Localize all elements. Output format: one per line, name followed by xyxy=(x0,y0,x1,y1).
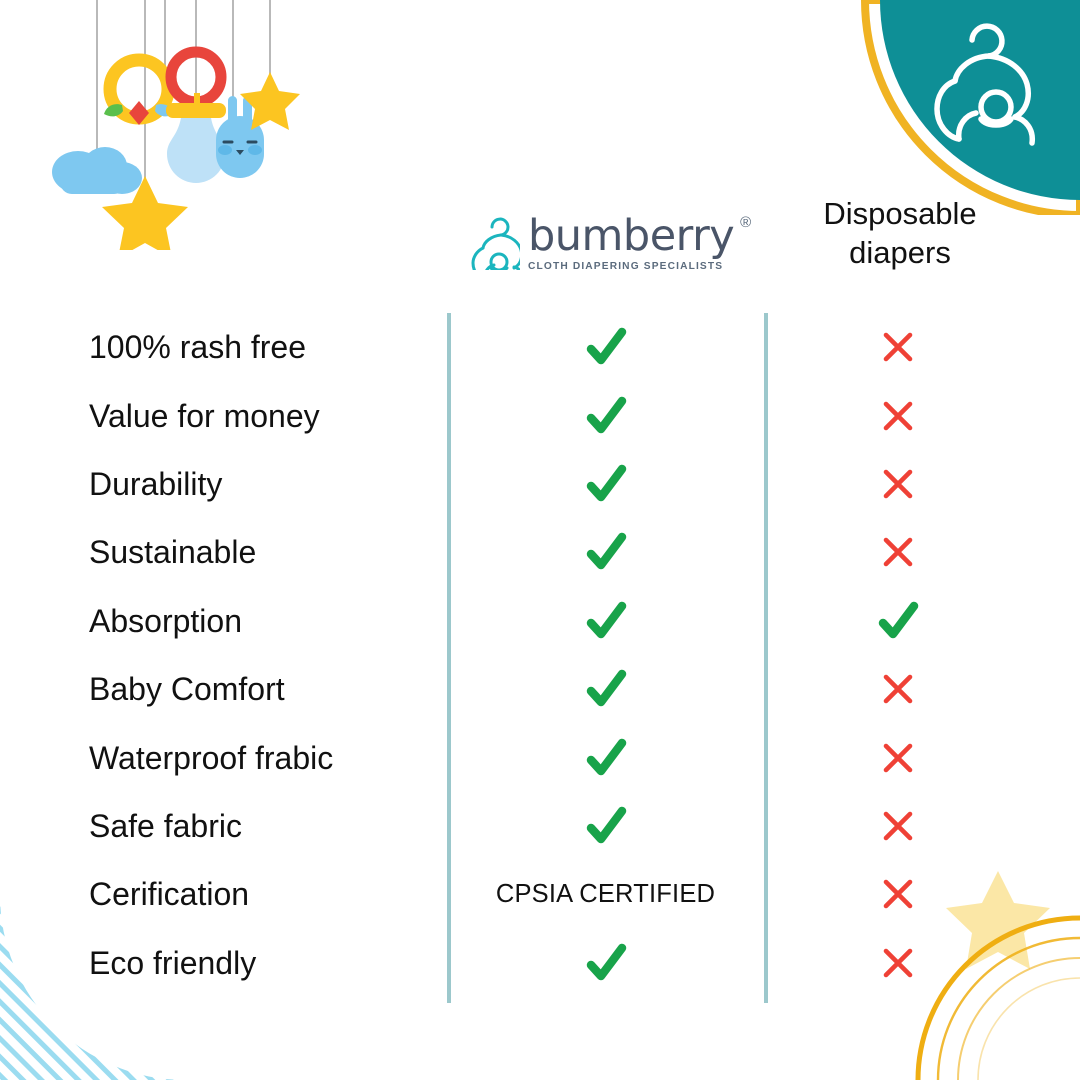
check-icon xyxy=(584,462,628,506)
check-icon xyxy=(584,530,628,574)
cloud-icon xyxy=(52,147,142,194)
check-icon xyxy=(876,599,920,643)
check-icon xyxy=(584,941,628,985)
cell-disposable xyxy=(768,587,1028,655)
cell-disposable xyxy=(768,860,1028,928)
cross-icon xyxy=(880,466,916,502)
cell-disposable xyxy=(768,450,1028,518)
feature-label: Eco friendly xyxy=(89,947,256,979)
cell-bumberry xyxy=(447,381,764,449)
check-icon xyxy=(584,599,628,643)
comparison-table: 100% rash freeValue for moneyDurabilityS… xyxy=(0,313,1080,997)
feature-label: Value for money xyxy=(89,400,320,432)
pacifier-icon xyxy=(166,52,226,183)
bumberry-logo-icon xyxy=(470,214,520,270)
rattle-ring-icon xyxy=(104,60,174,125)
cell-bumberry xyxy=(447,655,764,723)
cross-icon xyxy=(880,534,916,570)
cell-bumberry xyxy=(447,723,764,791)
registered-trademark-symbol: ® xyxy=(740,214,751,231)
table-row: Sustainable xyxy=(0,518,1080,586)
cell-disposable xyxy=(768,723,1028,791)
feature-label: Waterproof frabic xyxy=(89,742,333,774)
check-icon xyxy=(584,325,628,369)
cell-disposable xyxy=(768,792,1028,860)
parent-holding-baby-icon xyxy=(937,26,1032,143)
cell-disposable xyxy=(768,929,1028,997)
table-row: Eco friendly xyxy=(0,929,1080,997)
table-row: Safe fabric xyxy=(0,792,1080,860)
corner-badge-decoration xyxy=(820,0,1080,215)
feature-label: Absorption xyxy=(89,605,242,637)
star-icon xyxy=(240,72,300,130)
cross-icon xyxy=(880,945,916,981)
table-row: Baby Comfort xyxy=(0,655,1080,723)
cross-icon xyxy=(880,398,916,434)
table-row: CerificationCPSIA CERTIFIED xyxy=(0,860,1080,928)
feature-label: 100% rash free xyxy=(89,331,306,363)
feature-label: Safe fabric xyxy=(89,810,242,842)
cell-bumberry xyxy=(447,450,764,518)
brand-tagline: CLOTH DIAPERING SPECIALISTS xyxy=(528,261,734,272)
cell-bumberry xyxy=(447,929,764,997)
cell-bumberry xyxy=(447,792,764,860)
cross-icon xyxy=(880,671,916,707)
star-icon xyxy=(102,176,188,250)
check-icon xyxy=(584,736,628,780)
baby-mobile-decoration xyxy=(0,0,340,250)
brand-wordmark: bumberry xyxy=(528,215,734,258)
table-row: Durability xyxy=(0,450,1080,518)
feature-label: Baby Comfort xyxy=(89,673,285,705)
bunny-icon xyxy=(216,96,264,178)
feature-label: Sustainable xyxy=(89,536,256,568)
feature-label: Durability xyxy=(89,468,222,500)
cell-disposable xyxy=(768,655,1028,723)
comparison-infographic: bumberry ® CLOTH DIAPERING SPECIALISTS D… xyxy=(0,0,1080,1080)
table-row: 100% rash free xyxy=(0,313,1080,381)
cell-disposable xyxy=(768,518,1028,586)
table-row: Waterproof frabic xyxy=(0,723,1080,791)
cross-icon xyxy=(880,808,916,844)
table-row: Value for money xyxy=(0,381,1080,449)
cell-bumberry xyxy=(447,313,764,381)
check-icon xyxy=(584,667,628,711)
cell-disposable xyxy=(768,381,1028,449)
feature-label: Cerification xyxy=(89,878,249,910)
table-row: Absorption xyxy=(0,587,1080,655)
column-header-disposable: Disposable diapers xyxy=(770,194,1030,272)
cross-icon xyxy=(880,329,916,365)
check-icon xyxy=(584,804,628,848)
disposable-label-line1: Disposable xyxy=(770,194,1030,233)
cell-bumberry xyxy=(447,587,764,655)
cell-text-value: CPSIA CERTIFIED xyxy=(496,880,715,909)
cross-icon xyxy=(880,740,916,776)
cell-bumberry: CPSIA CERTIFIED xyxy=(447,860,764,928)
cell-disposable xyxy=(768,313,1028,381)
check-icon xyxy=(584,394,628,438)
cell-bumberry xyxy=(447,518,764,586)
disposable-label-line2: diapers xyxy=(770,233,1030,272)
column-header-bumberry: bumberry ® CLOTH DIAPERING SPECIALISTS xyxy=(470,196,760,288)
cross-icon xyxy=(880,876,916,912)
